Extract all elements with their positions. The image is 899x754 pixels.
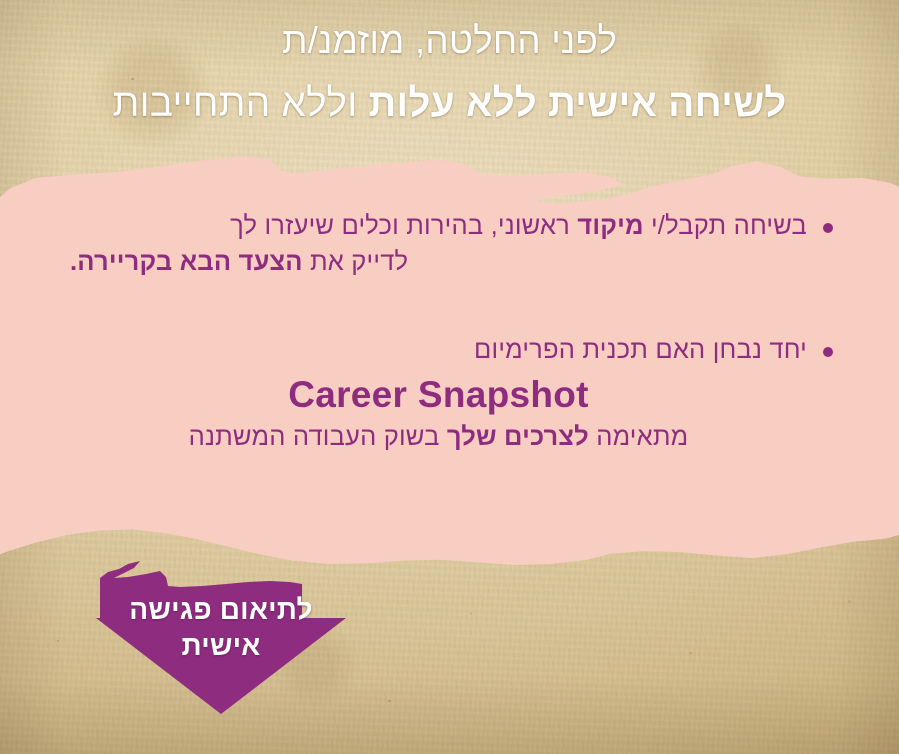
paper-fleck bbox=[388, 700, 391, 702]
bullet-dot-icon bbox=[823, 223, 833, 233]
bullet-1-line-2-a: לדייק את bbox=[303, 248, 409, 276]
cta-schedule-meeting-button[interactable]: לתיאום פגישה אישית bbox=[62, 556, 380, 714]
bullet-2-line-3-b: בשוק העבודה המשתנה bbox=[189, 423, 447, 451]
bullet-1-line-1-a: בשיחה תקבל/י bbox=[644, 212, 807, 240]
bullet-list: בשיחה תקבל/י מיקוד ראשוני, בהירות וכלים … bbox=[70, 208, 841, 455]
bullet-2-line-3-a: מתאימה bbox=[589, 423, 688, 451]
brand-name-career-snapshot: Career Snapshot bbox=[70, 373, 807, 417]
header-line-2: לשיחה אישית ללא עלות וללא התחייבות bbox=[0, 78, 899, 130]
bullet-1-line-1: בשיחה תקבל/י מיקוד ראשוני, בהירות וכלים … bbox=[70, 208, 807, 244]
bullet-2-line-1: יחד נבחן האם תכנית הפרימיום bbox=[70, 332, 807, 368]
header-line-2-emphasis: לשיחה אישית ללא עלות bbox=[368, 82, 786, 125]
bullet-1-line-2-emphasis: הצעד הבא בקריירה. bbox=[70, 248, 303, 276]
bullet-1-line-1-b: ראשוני, בהירות וכלים שיעזרו לך bbox=[230, 212, 577, 240]
paper-fleck bbox=[57, 640, 59, 642]
paper-fleck bbox=[848, 600, 851, 603]
list-item: בשיחה תקבל/י מיקוד ראשוני, בהירות וכלים … bbox=[70, 208, 841, 280]
header-line-1: לפני החלטה, מוזמנ/ת bbox=[0, 16, 899, 66]
bullet-2-line-3-emphasis: לצרכים שלך bbox=[447, 423, 589, 451]
list-item: יחד נבחן האם תכנית הפרימיום Career Snaps… bbox=[70, 332, 841, 455]
header-line-2-rest: וללא התחייבות bbox=[112, 82, 368, 125]
bullet-dot-icon bbox=[823, 347, 833, 357]
paper-fleck bbox=[470, 612, 472, 615]
down-arrow-icon bbox=[62, 556, 380, 714]
bullet-1-line-1-emphasis: מיקוד bbox=[577, 212, 643, 240]
paper-fleck bbox=[690, 652, 692, 654]
header: לפני החלטה, מוזמנ/ת לשיחה אישית ללא עלות… bbox=[0, 0, 899, 130]
bullet-2-line-3: מתאימה לצרכים שלך בשוק העבודה המשתנה bbox=[70, 419, 807, 455]
bullet-1-line-2: לדייק את הצעד הבא בקריירה. bbox=[70, 244, 807, 280]
